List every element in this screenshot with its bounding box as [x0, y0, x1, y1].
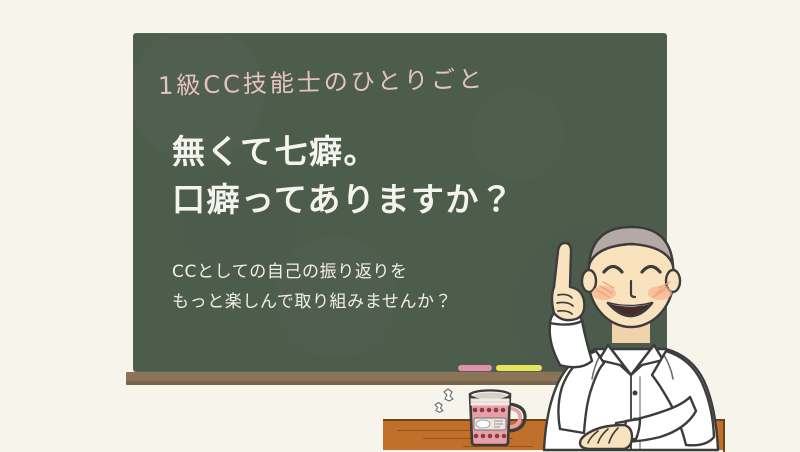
person-illustration — [500, 215, 740, 450]
headline-line-2: 口癖ってありますか？ — [172, 176, 514, 224]
subcopy: CCとしての自己の振り返りを もっと楽しんで取り組みませんか？ — [172, 258, 452, 318]
subcopy-line-1: CCとしての自己の振り返りを — [172, 258, 452, 288]
pink-chalk-icon — [458, 365, 492, 371]
headline: 無くて七癖。 口癖ってありますか？ — [172, 128, 514, 224]
subcopy-line-2: もっと楽しんで取り組みませんか？ — [172, 288, 452, 318]
eyebrow-text: 1級CC技能士のひとりごと — [158, 59, 486, 101]
header-image-canvas: 1級CC技能士のひとりごと 無くて七癖。 口癖ってありますか？ CCとしての自己… — [0, 0, 800, 450]
headline-line-1: 無くて七癖。 — [172, 128, 514, 176]
